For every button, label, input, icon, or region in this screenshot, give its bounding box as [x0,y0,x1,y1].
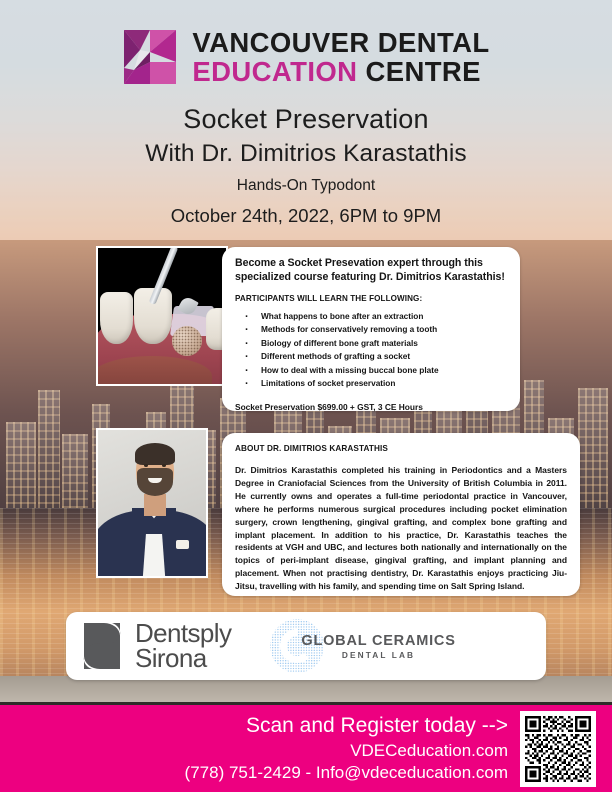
footer-phone-email[interactable]: (778) 751-2429 - Info@vdeceducation.com [185,763,508,783]
list-item: Biology of different bone graft material… [235,337,507,350]
bio-heading: ABOUT DR. DIMITRIOS KARASTATHIS [235,444,567,453]
brand-line-2: EDUCATION CENTRE [192,58,489,86]
global-ceramics-line-1: GLOBAL CERAMICS [301,633,455,649]
learning-objectives-heading: PARTICIPANTS WILL LEARN THE FOLLOWING: [235,294,507,303]
footer-website[interactable]: VDECeducation.com [185,741,508,761]
course-title: Socket Preservation [0,104,612,135]
global-ceramics-wordmark: GLOBAL CERAMICS DENTAL LAB [301,633,455,660]
brand-line-1: VANCOUVER DENTAL [192,29,489,57]
global-ceramics-line-2: DENTAL LAB [301,650,455,660]
list-item: What happens to bone after an extraction [235,310,507,323]
dr-karastathis-portrait [96,428,208,578]
list-item: Different methods of grafting a socket [235,350,507,363]
dentsply-sirona-logo: Dentsply Sirona [80,621,231,671]
brand-wordmark: VANCOUVER DENTAL EDUCATION CENTRE [192,29,489,85]
registration-footer: Scan and Register today --> VDECeducatio… [0,702,612,792]
qr-code-icon[interactable] [520,711,596,787]
brand-header: VANCOUVER DENTAL EDUCATION CENTRE [0,28,612,86]
course-intro-text: Become a Socket Presevation expert throu… [235,257,507,285]
dentsply-sirona-logo-icon [80,621,124,671]
list-item: Limitations of socket preservation [235,377,507,390]
brand-centre-word: CENTRE [357,56,481,87]
learning-objectives-list: What happens to bone after an extraction… [235,310,507,391]
footer-cta: Scan and Register today --> [185,714,508,739]
title-block: Socket Preservation With Dr. Dimitrios K… [0,104,612,227]
presenter-title: With Dr. Dimitrios Karastathis [0,140,612,168]
list-item: Methods for conservatively removing a to… [235,323,507,336]
dentsply-sirona-wordmark: Dentsply Sirona [135,621,231,670]
global-ceramics-logo: GLOBAL CERAMICS DENTAL LAB [269,618,455,674]
list-item: How to deal with a missing buccal bone p… [235,364,507,377]
course-price: Socket Preservation $699.00 + GST, 3 CE … [235,402,507,412]
presenter-bio-card: ABOUT DR. DIMITRIOS KARASTATHIS Dr. Dimi… [222,433,580,596]
brand-education-word: EDUCATION [192,56,357,87]
footer-contact-block: Scan and Register today --> VDECeducatio… [185,714,508,783]
socket-graft-illustration [96,246,228,386]
course-format: Hands-On Typodont [0,177,612,195]
sponsor-logos-card: Dentsply Sirona [66,612,546,680]
bio-text: Dr. Dimitrios Karastathis completed his … [235,464,567,593]
dentsply-line-2: Sirona [135,646,231,671]
poster-flyer: VANCOUVER DENTAL EDUCATION CENTRE Socket… [0,0,612,792]
course-datetime: October 24th, 2022, 6PM to 9PM [0,205,612,227]
vdec-diamond-logo-icon [122,28,178,86]
course-details-card: Become a Socket Presevation expert throu… [222,247,520,411]
